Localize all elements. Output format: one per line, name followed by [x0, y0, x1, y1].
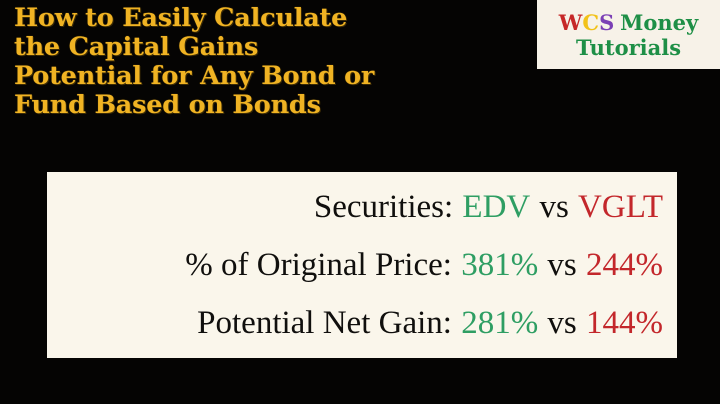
logo-line-2: Tutorials: [576, 35, 681, 60]
logo-word-money: Money: [620, 10, 698, 35]
title-line-4: Fund Based on Bonds: [14, 91, 534, 120]
comparison-panel: Securities:EDVvsVGLT % of Original Price…: [47, 172, 677, 358]
thumbnail-canvas: How to Easily Calculate the Capital Gain…: [0, 0, 720, 404]
title-line-1: How to Easily Calculate: [14, 4, 534, 33]
row-green-value-securities: EDV: [462, 189, 530, 225]
row-red-value-original-price: 244%: [586, 247, 663, 283]
title-line-2: the Capital Gains: [14, 33, 534, 62]
logo-letter-w: W: [559, 10, 583, 35]
row-separator-securities: vs: [539, 189, 568, 225]
row-red-value-net-gain: 144%: [586, 305, 663, 341]
row-separator-net-gain: vs: [547, 305, 576, 341]
row-green-value-net-gain: 281%: [461, 305, 538, 341]
row-separator-original-price: vs: [547, 247, 576, 283]
row-label-original-price: % of Original Price:: [185, 247, 452, 283]
row-label-securities: Securities:: [314, 189, 453, 225]
logo-letter-s: S: [599, 10, 614, 35]
row-green-value-original-price: 381%: [461, 247, 538, 283]
channel-logo: WCSMoney Tutorials: [537, 0, 720, 69]
row-label-net-gain: Potential Net Gain:: [197, 305, 452, 341]
comparison-row-securities: Securities:EDVvsVGLT: [57, 187, 665, 227]
row-red-value-securities: VGLT: [578, 189, 663, 225]
logo-line-1: WCSMoney: [559, 10, 698, 35]
comparison-row-net-gain: Potential Net Gain:281%vs144%: [57, 303, 665, 343]
comparison-row-original-price: % of Original Price:381%vs244%: [57, 245, 665, 285]
page-title: How to Easily Calculate the Capital Gain…: [14, 4, 534, 120]
title-line-3: Potential for Any Bond or: [14, 62, 534, 91]
logo-letter-c: C: [582, 10, 599, 35]
